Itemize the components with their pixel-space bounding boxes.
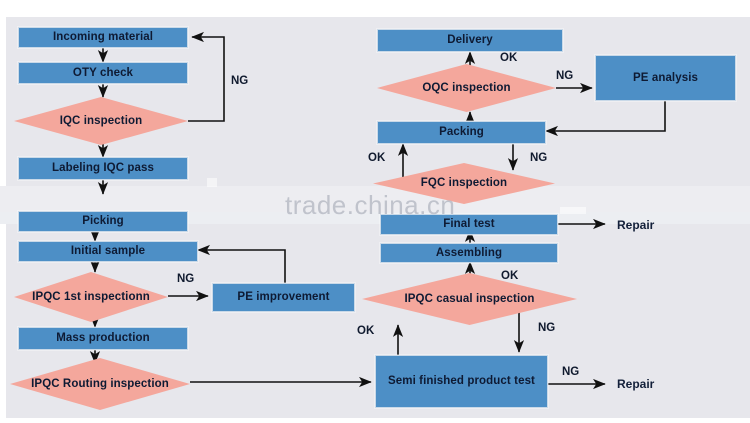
node-label: Packing	[439, 126, 484, 139]
edge-label-iqc-ng: NG	[231, 75, 248, 87]
node-oqc-inspection[interactable]: OQC inspection	[377, 64, 556, 112]
node-oty-check[interactable]: OTY check	[18, 62, 188, 84]
node-label: IPQC 1st inspectionn	[26, 291, 156, 304]
edge-label-oqc-ok: OK	[500, 52, 517, 64]
node-ipqc-1st-inspection[interactable]: IPQC 1st inspectionn	[14, 272, 168, 322]
node-ipqc-routing-inspection[interactable]: IPQC Routing inspection	[10, 358, 190, 410]
node-label: IPQC Routing inspection	[25, 378, 175, 391]
node-label: Semi finished product test	[388, 375, 535, 388]
node-label: Initial sample	[71, 245, 145, 258]
node-pe-analysis[interactable]: PE analysis	[595, 55, 736, 101]
node-ipqc-casual-inspection[interactable]: IPQC casual inspection	[362, 273, 577, 325]
edge-label-semi-finished-ng: NG	[562, 366, 579, 378]
node-packing[interactable]: Packing	[377, 121, 546, 144]
node-label: FQC inspection	[415, 177, 513, 190]
edge-label-oqc-ng: NG	[556, 70, 573, 82]
node-fqc-inspection[interactable]: FQC inspection	[373, 163, 555, 204]
node-initial-sample[interactable]: Initial sample	[18, 241, 198, 262]
node-semi-finished-product-test[interactable]: Semi finished product test	[375, 355, 548, 408]
node-repair-bottom: Repair	[617, 377, 654, 391]
node-label: Mass production	[56, 332, 150, 345]
node-label: OQC inspection	[416, 82, 516, 95]
node-iqc-inspection[interactable]: IQC inspection	[14, 97, 188, 145]
node-label: Delivery	[447, 34, 493, 47]
node-label: Final test	[443, 218, 494, 231]
edge-label-ipqc-1st-ng: NG	[177, 273, 194, 285]
node-mass-production[interactable]: Mass production	[18, 327, 188, 350]
node-label: Incoming material	[53, 31, 153, 44]
node-delivery[interactable]: Delivery	[377, 29, 563, 52]
node-label: IQC inspection	[54, 115, 149, 128]
node-label: PE improvement	[237, 291, 329, 304]
node-label: PE analysis	[633, 72, 698, 85]
node-label: OTY check	[73, 67, 133, 80]
node-label: IPQC casual inspection	[398, 293, 540, 306]
node-repair-top: Repair	[617, 218, 654, 232]
node-label: Labeling IQC pass	[52, 162, 154, 175]
node-labeling-iqc-pass[interactable]: Labeling IQC pass	[18, 157, 188, 180]
edge-label-ipqc-casual-ng: NG	[538, 322, 555, 334]
node-label: Assembling	[436, 247, 502, 260]
flowchart-image: Incoming material OTY check IQC inspecti…	[0, 0, 750, 423]
node-label: Picking	[82, 215, 124, 228]
edge-label-ipqc-casual-ok-left: OK	[357, 325, 374, 337]
node-final-test[interactable]: Final test	[380, 214, 558, 235]
node-assembling[interactable]: Assembling	[380, 243, 558, 263]
node-pe-improvement[interactable]: PE improvement	[212, 283, 355, 312]
node-picking[interactable]: Picking	[18, 211, 188, 232]
node-incoming-material[interactable]: Incoming material	[18, 27, 188, 48]
